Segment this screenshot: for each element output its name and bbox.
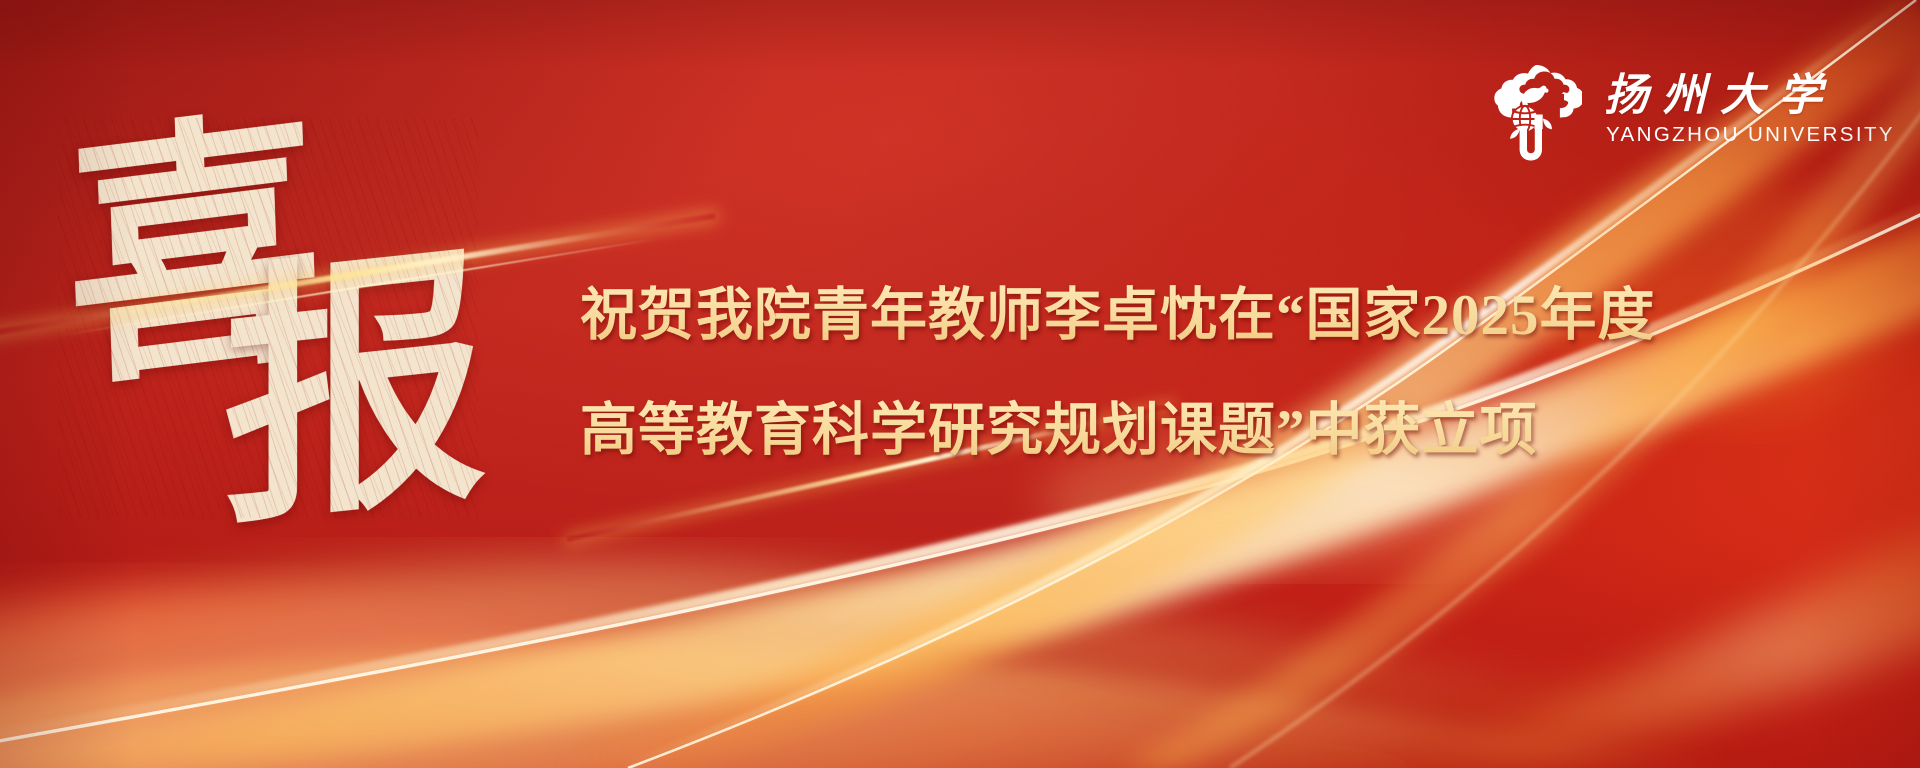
university-name-en: YANGZHOU UNIVERSITY [1606, 123, 1895, 146]
yangzhou-university-tree-globe-icon [1490, 62, 1582, 166]
headline-block: 祝贺我院青年教师李卓忱在“国家2025年度 高等教育科学研究规划课题”中获立项 [580, 258, 1760, 488]
headline-line-2: 高等教育科学研究规划课题”中获立项 [580, 373, 1760, 488]
celebration-banner: 喜 报 祝贺我院青年教师李卓忱在“国家2025年度 高等教育科学研究规划课题”中… [0, 0, 1920, 768]
headline-line-1: 祝贺我院青年教师李卓忱在“国家2025年度 [580, 258, 1760, 373]
university-logo-wordmark: 扬州大学 YANGZHOU UNIVERSITY [1604, 62, 1920, 148]
university-logo: 扬州大学 YANGZHOU UNIVERSITY [1490, 62, 1920, 166]
university-name-cn: 扬州大学 [1604, 70, 1836, 121]
